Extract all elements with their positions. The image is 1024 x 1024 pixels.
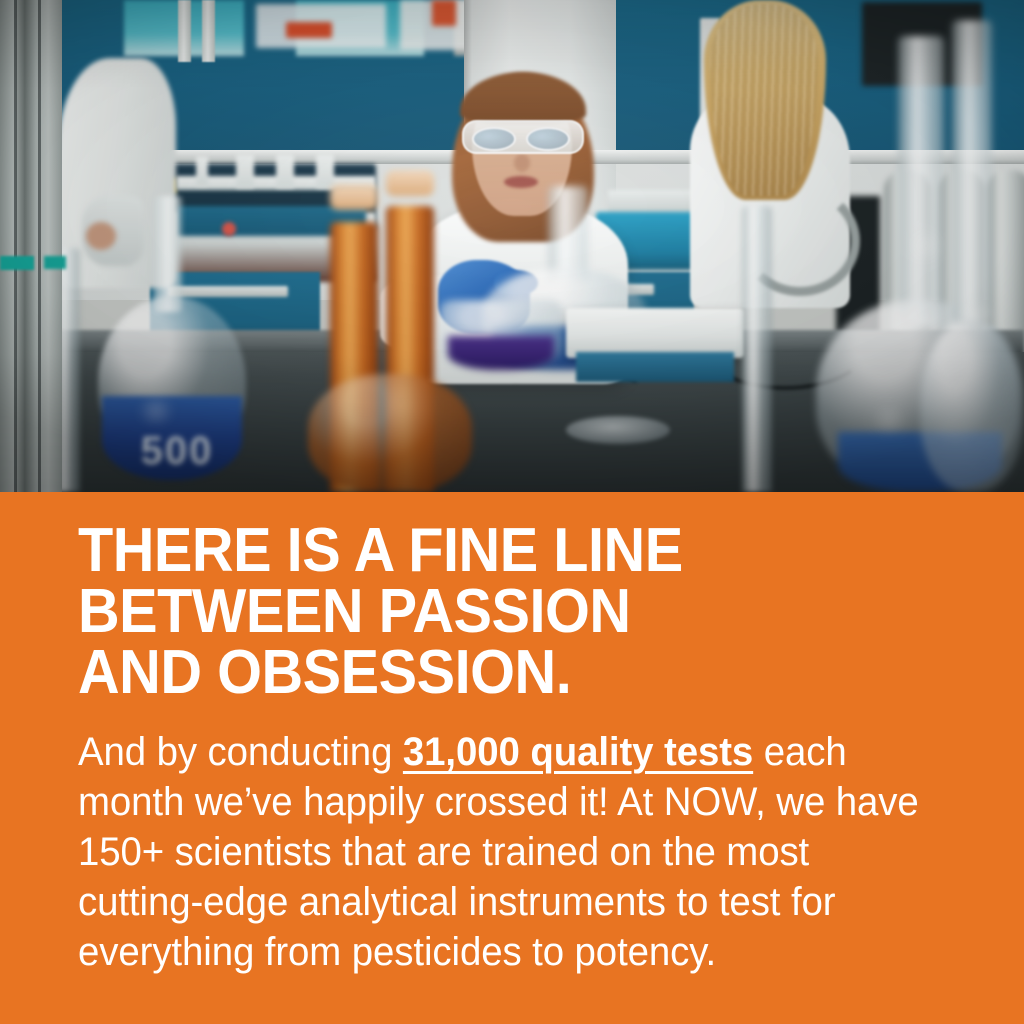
frame-seam (14, 0, 17, 492)
mouth (504, 176, 538, 188)
flask-neck (898, 36, 944, 326)
nose (514, 154, 530, 172)
scientist-left-hand (86, 222, 116, 250)
stat-highlight: 31,000 quality tests (403, 730, 753, 774)
teal-accent (44, 256, 66, 269)
flask-neck (154, 196, 182, 312)
headline: THERE IS A FINE LINE BETWEEN PASSION AND… (78, 520, 915, 703)
flask-neck (952, 20, 992, 320)
amber-glassware-group (300, 188, 480, 492)
scientist-background-right (690, 0, 870, 300)
cylinder-stopper (386, 170, 434, 196)
body-copy: And by conducting 31,000 quality tests e… (78, 727, 923, 977)
instrument-knob (222, 222, 236, 236)
safety-goggles (462, 120, 584, 154)
goggle-lens (526, 127, 570, 151)
cabinet-contents (286, 22, 332, 38)
test-tube (196, 156, 208, 186)
body-before: And by conducting (78, 730, 403, 774)
balance-base (576, 352, 734, 382)
amber-flask-bulb (308, 374, 472, 492)
analytical-balance (566, 308, 744, 358)
cabinet-mullion (178, 0, 191, 62)
goggle-lens (472, 127, 516, 151)
graduated-cylinder (742, 206, 772, 492)
hair-fringe (460, 72, 586, 124)
lab-photo: 500 (0, 0, 1024, 492)
flask-bulb (920, 320, 1024, 492)
test-tube (236, 154, 254, 188)
hair-strands (710, 4, 818, 196)
door-frame-column (0, 0, 62, 492)
test-tube (276, 154, 294, 188)
cylinder-stopper (330, 184, 378, 210)
petri-dish (566, 416, 670, 444)
test-tube (316, 154, 334, 188)
frame-seam (38, 0, 41, 492)
glassware-volume-label: 500 (122, 430, 232, 472)
cabinet-contents (432, 0, 456, 26)
social-graphic-canvas: 500 (0, 0, 1024, 1024)
teal-accent (0, 256, 34, 270)
orange-text-panel: THERE IS A FINE LINE BETWEEN PASSION AND… (0, 492, 1024, 1024)
volumetric-flask-500: 500 (92, 292, 252, 492)
cabinet-mullion (202, 0, 215, 62)
